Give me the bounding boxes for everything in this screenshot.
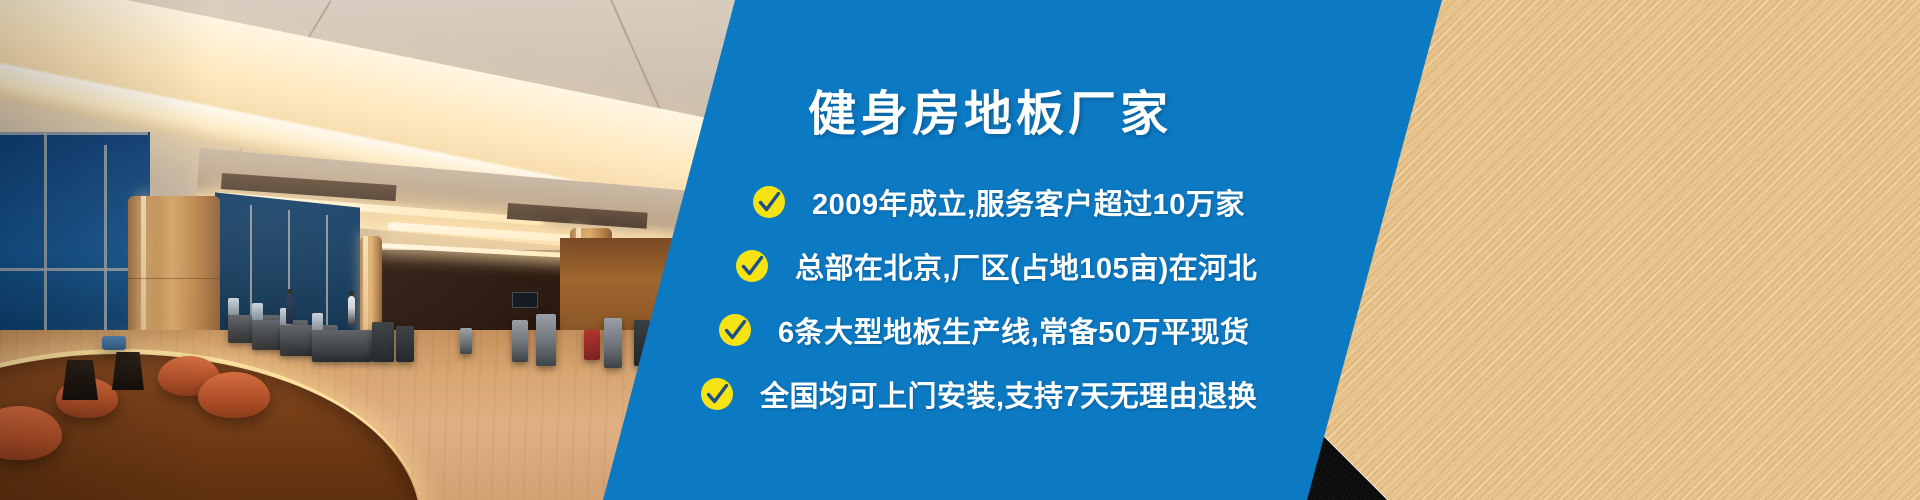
feature-label: 全国均可上门安装,支持7天无理由退换 <box>760 373 1257 415</box>
feature-label: 总部在北京,厂区(占地105亩)在河北 <box>795 245 1257 287</box>
promotional-banner: 健身房地板厂家 2009年成立,服务客户超过10万家 <box>0 0 1920 500</box>
page-title: 健身房地板厂家 <box>680 74 1300 144</box>
feature-list: 2009年成立,服务客户超过10万家 总部在北京,厂区(占地105亩)在河北 <box>0 170 1920 426</box>
feature-label: 2009年成立,服务客户超过10万家 <box>812 181 1245 223</box>
list-item: 全国均可上门安装,支持7天无理由退换 <box>0 362 1920 426</box>
banner-copy: 健身房地板厂家 2009年成立,服务客户超过10万家 <box>0 0 1920 500</box>
list-item: 总部在北京,厂区(占地105亩)在河北 <box>0 234 1920 298</box>
list-item: 6条大型地板生产线,常备50万平现货 <box>0 298 1920 362</box>
check-circle-icon <box>700 377 734 411</box>
list-item: 2009年成立,服务客户超过10万家 <box>0 170 1920 234</box>
feature-label: 6条大型地板生产线,常备50万平现货 <box>778 309 1249 351</box>
check-circle-icon <box>752 185 786 219</box>
check-circle-icon <box>735 249 769 283</box>
check-circle-icon <box>718 313 752 347</box>
